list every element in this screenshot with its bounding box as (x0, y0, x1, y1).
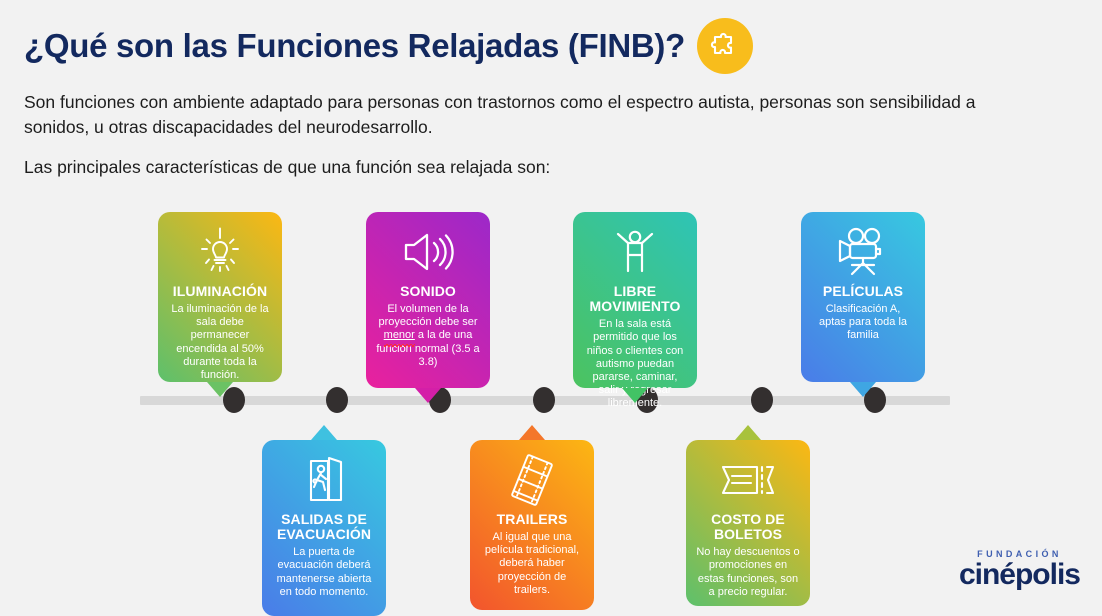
card-salidas-evacuacion: SALIDAS DE EVACUACIÓNLa puerta de evacua… (262, 440, 386, 616)
card-title: TRAILERS (480, 512, 584, 527)
puzzle-piece-icon (697, 18, 753, 74)
timeline-dot (533, 387, 555, 413)
card-pointer (519, 425, 545, 440)
card-peliculas: PELÍCULASClasificación A, aptas para tod… (801, 212, 925, 382)
card-libre-movimiento: LIBRE MOVIMIENTOEn la sala está permitid… (573, 212, 697, 388)
intro-text: Son funciones con ambiente adaptado para… (24, 90, 1024, 180)
card-body: La iluminación de la sala debe permanece… (168, 303, 272, 382)
card-pointer (415, 388, 441, 403)
card-body: El volumen de la proyección debe ser men… (376, 303, 480, 369)
card-pointer (622, 388, 648, 403)
intro-paragraph-1: Son funciones con ambiente adaptado para… (24, 92, 975, 137)
brand-logo: FUNDACIÓN cinépolis (959, 549, 1080, 590)
card-title: LIBRE MOVIMIENTO (583, 284, 687, 314)
card-body-emphasis: menor (384, 329, 415, 342)
film-strip-icon (480, 452, 584, 508)
card-pointer (850, 382, 876, 397)
speaker-volume-icon (376, 224, 480, 280)
timeline-dot (326, 387, 348, 413)
card-title: SALIDAS DE EVACUACIÓN (272, 512, 376, 542)
card-iluminacion: ILUMINACIÓNLa iluminación de la sala deb… (158, 212, 282, 382)
card-trailers: TRAILERSAl igual que una película tradic… (470, 440, 594, 610)
card-pointer (735, 425, 761, 440)
intro-paragraph-2: Las principales características de que u… (24, 155, 1024, 180)
header: ¿Qué son las Funciones Relajadas (FINB)?… (24, 18, 1078, 180)
person-arms-up-icon (583, 224, 687, 280)
card-costo-boletos: COSTO DE BOLETOSNo hay descuentos o prom… (686, 440, 810, 606)
emergency-exit-icon (272, 452, 376, 508)
card-title: SONIDO (376, 284, 480, 299)
card-pointer (207, 382, 233, 397)
page-title: ¿Qué son las Funciones Relajadas (FINB)? (24, 27, 685, 65)
card-body: La puerta de evacuación deberá manteners… (272, 546, 376, 599)
title-row: ¿Qué son las Funciones Relajadas (FINB)? (24, 18, 1078, 74)
card-title: COSTO DE BOLETOS (696, 512, 800, 542)
card-body: Al igual que una película tradicional, d… (480, 531, 584, 597)
card-title: PELÍCULAS (811, 284, 915, 299)
card-sonido: SONIDOEl volumen de la proyección debe s… (366, 212, 490, 388)
movie-camera-icon (811, 224, 915, 280)
logo-cinepolis-text: cinépolis (959, 560, 1080, 590)
card-pointer (311, 425, 337, 440)
lightbulb-icon (168, 224, 272, 280)
ticket-icon (696, 452, 800, 508)
card-title: ILUMINACIÓN (168, 284, 272, 299)
timeline-dot (751, 387, 773, 413)
card-body: Clasificación A, aptas para toda la fami… (811, 303, 915, 343)
card-body: No hay descuentos o promociones en estas… (696, 546, 800, 599)
